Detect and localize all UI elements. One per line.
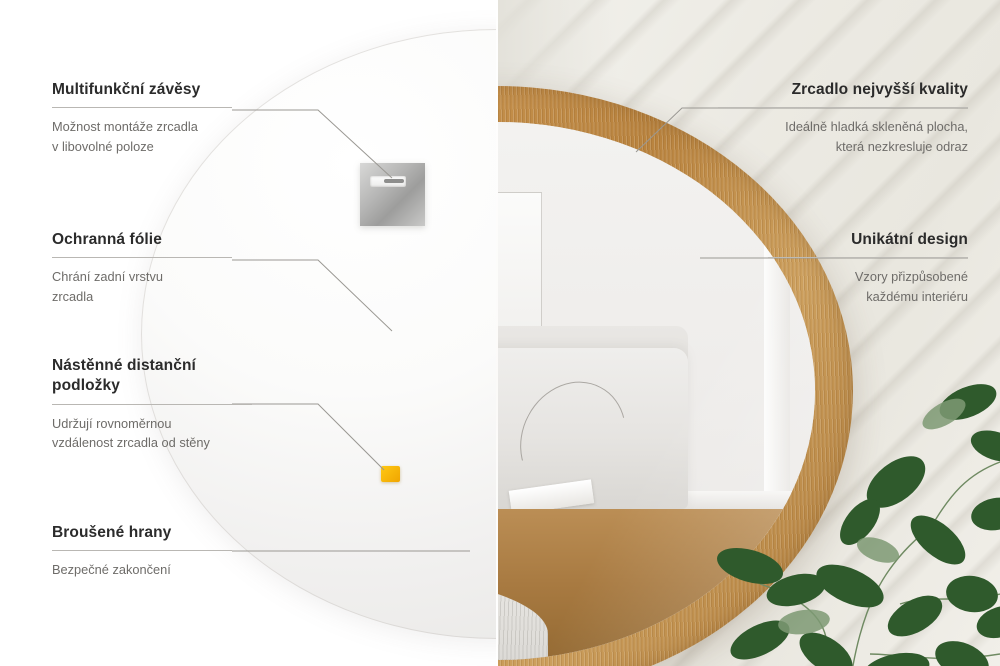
callout-multifunkcni-zavesy: Multifunkční závěsy Možnost montáže zrca…	[52, 80, 232, 156]
callout-title: Nástěnné distanční podložky	[52, 356, 252, 397]
callout-title: Unikátní design	[768, 230, 968, 250]
callout-unikatni-design: Unikátní design Vzory přizpůsobené každé…	[768, 230, 968, 306]
callout-description: Možnost montáže zrcadla v libovolné polo…	[52, 117, 232, 155]
hanger-plate	[360, 163, 425, 226]
callout-rule	[718, 107, 968, 108]
callout-brousene-hrany: Broušené hrany Bezpečné zakončení	[52, 523, 232, 580]
callout-zrcadlo-nejvyssi-kvality: Zrcadlo nejvyšší kvality Ideálně hladká …	[718, 80, 968, 156]
leaves-icon	[700, 354, 1000, 666]
spacer-pad	[381, 466, 400, 482]
callout-description: Bezpečné zakončení	[52, 560, 232, 579]
callout-title: Broušené hrany	[52, 523, 232, 543]
hanger-slot	[370, 176, 406, 187]
callout-rule	[52, 404, 252, 405]
callout-description: Vzory přizpůsobené každému interiéru	[768, 267, 968, 305]
callout-rule	[52, 257, 232, 258]
callout-rule	[768, 257, 968, 258]
callout-title: Multifunkční závěsy	[52, 80, 232, 100]
callout-rule	[52, 550, 232, 551]
callout-title: Ochranná fólie	[52, 230, 232, 250]
panel-seam	[496, 0, 498, 666]
callout-ochranna-folie: Ochranná fólie Chrání zadní vrstvu zrcad…	[52, 230, 232, 306]
callout-title: Zrcadlo nejvyšší kvality	[718, 80, 968, 100]
callout-rule	[52, 107, 232, 108]
foliage-decoration	[700, 354, 1000, 666]
callout-description: Ideálně hladká skleněná plocha, která ne…	[718, 117, 968, 155]
callout-description: Udržují rovnoměrnou vzdálenost zrcadla o…	[52, 414, 252, 452]
callout-description: Chrání zadní vrstvu zrcadla	[52, 267, 232, 305]
callout-nastenne-distancni-podlozky: Nástěnné distanční podložky Udržují rovn…	[52, 356, 252, 452]
infographic-stage: Multifunkční závěsy Možnost montáže zrca…	[0, 0, 1000, 666]
